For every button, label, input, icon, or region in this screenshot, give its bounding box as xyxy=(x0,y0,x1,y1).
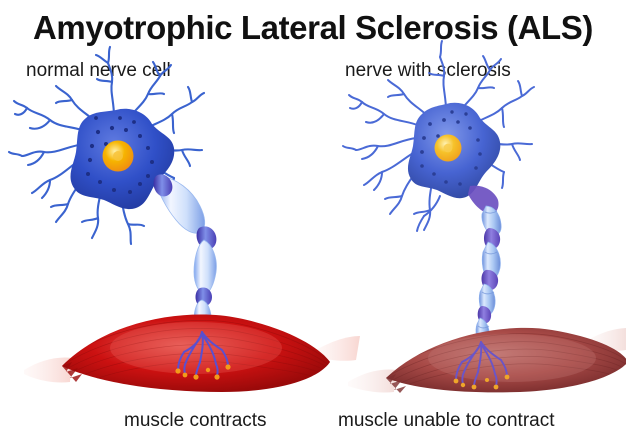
motor-end-plate-left xyxy=(175,332,230,380)
caption-muscle-unable-to-contract: muscle unable to contract xyxy=(338,410,555,432)
tendon-left-distal xyxy=(314,336,360,361)
panel-heading-normal: normal nerve cell xyxy=(26,60,171,82)
muscle-belly-left xyxy=(62,314,330,392)
muscle-fiber-fray-right xyxy=(386,374,406,393)
nucleus-left xyxy=(103,141,134,172)
soma-shape-left xyxy=(71,109,175,209)
muscle-belly-right xyxy=(386,328,626,393)
sclerosis-neuron-group xyxy=(343,41,534,344)
muscle-fiber-fray-left xyxy=(62,362,82,382)
motor-end-plate-right xyxy=(454,342,510,389)
muscle-highlight-right xyxy=(428,334,596,382)
axon-myelin-right xyxy=(468,186,501,345)
soma-shape-right xyxy=(408,103,500,198)
panel-heading-sclerosis: nerve with sclerosis xyxy=(345,60,511,82)
muscle-highlight-left xyxy=(110,322,282,374)
muscle-striations-right xyxy=(382,326,626,393)
als-diagram: Amyotrophic Lateral Sclerosis (ALS) norm… xyxy=(0,0,626,443)
page-title: Amyotrophic Lateral Sclerosis (ALS) xyxy=(0,9,626,47)
endplate-dots-right xyxy=(454,375,510,390)
axon-myelin-left xyxy=(154,174,217,334)
nucleus-right xyxy=(435,135,462,162)
normal-neuron-group xyxy=(9,47,216,334)
nissl-bodies-left xyxy=(86,116,154,194)
nucleolus-right xyxy=(444,144,453,153)
caption-muscle-contracts: muscle contracts xyxy=(124,410,267,432)
healthy-muscle-group xyxy=(24,312,360,392)
muscle-striations-left xyxy=(56,312,332,391)
tendon-right-proximal xyxy=(348,370,396,393)
atrophied-muscle-group xyxy=(348,326,626,393)
tendon-left-proximal xyxy=(24,358,72,383)
nissl-bodies-right xyxy=(420,110,482,186)
tendon-right-distal xyxy=(586,328,626,351)
nucleolus-left xyxy=(113,151,123,161)
endplate-dots-left xyxy=(175,364,230,379)
